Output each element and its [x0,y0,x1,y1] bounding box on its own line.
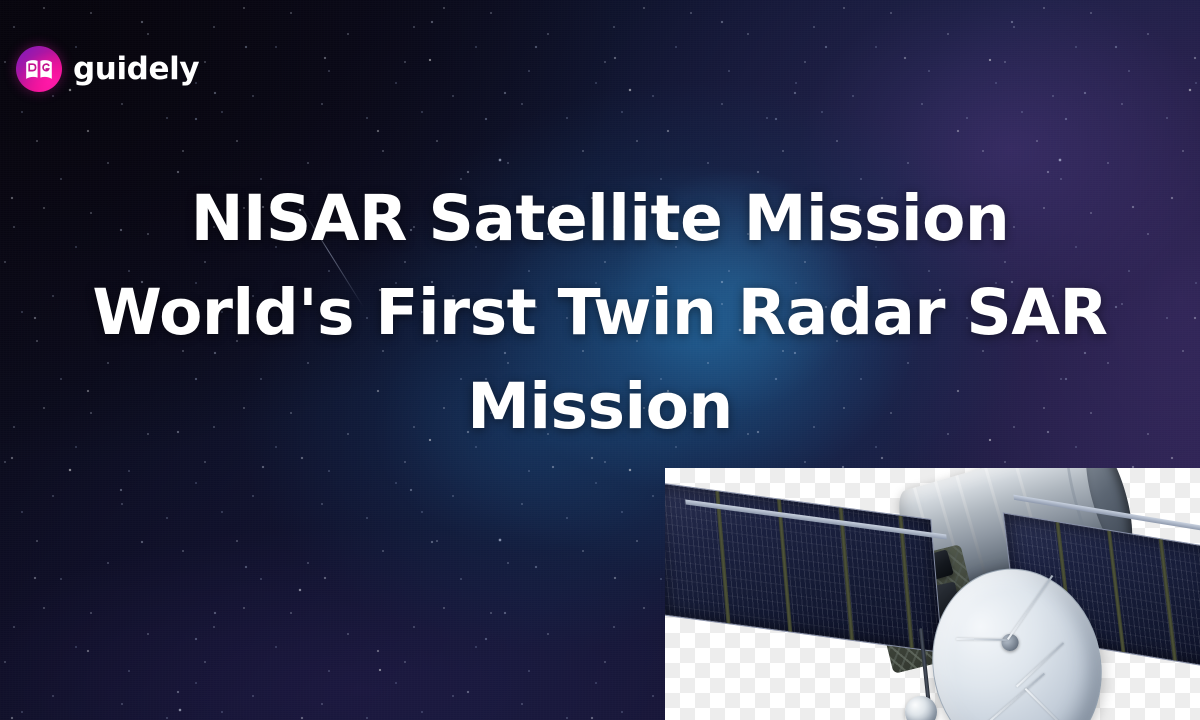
dish-strut-5 [1025,688,1073,720]
page-title: NISAR Satellite Mission World's First Tw… [0,172,1200,454]
headline-line-2: World's First Twin Radar SAR [60,266,1140,360]
dish-strut-3 [1016,642,1064,687]
headline-line-1: NISAR Satellite Mission [60,172,1140,266]
brand-logo[interactable]: guidely [16,46,199,92]
boom-sphere-lower [905,696,937,720]
satellite-image-panel [665,468,1200,720]
dish-strut-2 [1007,575,1053,640]
satellite-illustration [665,468,1200,720]
dish-strut-1 [956,638,1008,641]
open-book-dg-icon [16,46,62,92]
headline-line-3: Mission [60,360,1140,454]
brand-name-text: guidely [73,54,199,85]
poster-canvas: guidely NISAR Satellite Mission World's … [0,0,1200,720]
